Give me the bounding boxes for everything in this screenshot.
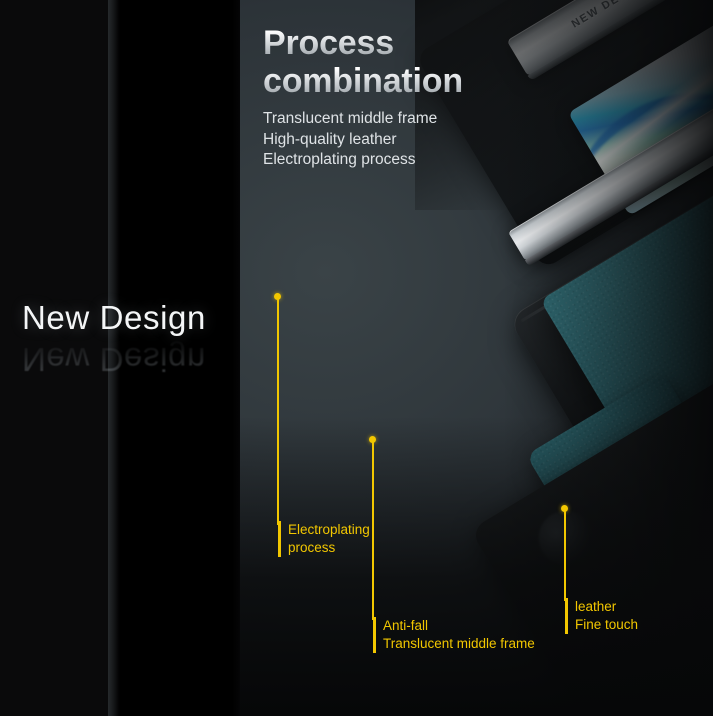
callout-text: Anti-fall Translucent middle frame [383, 617, 535, 653]
callout-line-1: leather [575, 599, 616, 614]
new-design-title: New Design [22, 299, 206, 337]
new-design-reflection: New Design [22, 340, 206, 378]
feature-item: High-quality leather [263, 130, 693, 150]
scene-shadow-bottom [240, 416, 713, 716]
feature-list: Translucent middle frame High-quality le… [263, 109, 693, 170]
callout-accent-bar [278, 521, 281, 557]
leader-line [277, 297, 279, 525]
callout-leather: leather Fine touch [565, 598, 638, 634]
product-marketing-banner: New Design New Design NEW DESIGN [0, 0, 713, 716]
callout-line-1: Anti-fall [383, 618, 428, 633]
leader-line [564, 509, 566, 601]
headline-line-2: combination [263, 62, 693, 100]
callout-electroplating: Electroplating process [278, 521, 370, 557]
callout-line-2: process [288, 539, 370, 557]
callout-anti-fall: Anti-fall Translucent middle frame [373, 617, 535, 653]
callout-accent-bar [373, 617, 376, 653]
callout-text: leather Fine touch [575, 598, 638, 634]
callout-text: Electroplating process [288, 521, 370, 557]
headline-line-1: Process [263, 24, 693, 62]
callout-line-2: Fine touch [575, 616, 638, 634]
callout-accent-bar [565, 598, 568, 634]
headline-block: Process combination Translucent middle f… [263, 24, 693, 171]
callout-line-1: Electroplating [288, 522, 370, 537]
product-scene: NEW DESIGN Pro [240, 0, 713, 716]
leader-line [372, 440, 374, 620]
feature-item: Electroplating process [263, 150, 693, 170]
left-panel: New Design New Design [0, 0, 240, 716]
callout-line-2: Translucent middle frame [383, 635, 535, 653]
feature-item: Translucent middle frame [263, 109, 693, 129]
